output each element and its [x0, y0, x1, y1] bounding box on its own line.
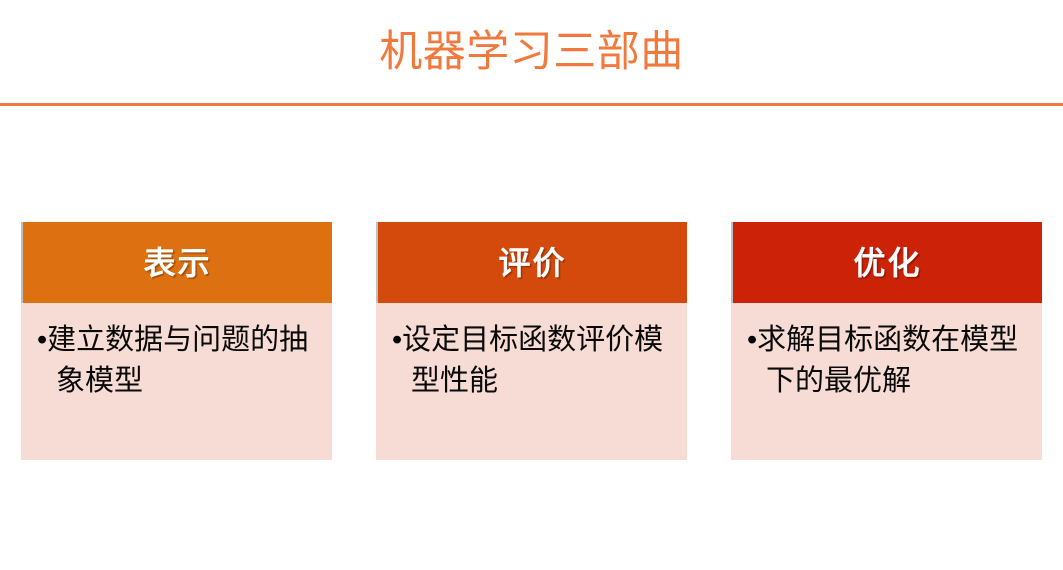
concept-card-body-text: 求解目标函数在模型下的最优解 [757, 324, 1018, 397]
bullet-icon: • [37, 324, 47, 356]
slide-title-text: 机器学习三部曲 [379, 28, 684, 76]
slide-title: 机器学习三部曲 [0, 22, 1063, 82]
concept-card-body-line: •设定目标函数评价模型性能 [392, 320, 675, 402]
cards-row: 表示 •建立数据与问题的抽象模型 评价 •设定目标函数评价模型性能 优化 •求解… [0, 222, 1063, 462]
bullet-icon: • [392, 324, 402, 356]
concept-card-body-text: 设定目标函数评价模型性能 [402, 324, 663, 397]
concept-card-body: •建立数据与问题的抽象模型 [21, 303, 332, 402]
concept-card-representation[interactable]: 表示 •建立数据与问题的抽象模型 [21, 222, 332, 460]
concept-card-body-line: •求解目标函数在模型下的最优解 [747, 320, 1030, 402]
concept-card-header-label: 表示 [143, 247, 211, 279]
bullet-icon: • [747, 324, 757, 356]
concept-card-header: 表示 [21, 222, 332, 303]
concept-card-header: 优化 [731, 222, 1042, 303]
concept-card-body-text: 建立数据与问题的抽象模型 [47, 324, 308, 397]
concept-card-body-line: •建立数据与问题的抽象模型 [37, 320, 320, 402]
concept-card-body: •求解目标函数在模型下的最优解 [731, 303, 1042, 402]
concept-card-header: 评价 [376, 222, 687, 303]
concept-card-header-label: 评价 [498, 247, 566, 279]
concept-card-optimization[interactable]: 优化 •求解目标函数在模型下的最优解 [731, 222, 1042, 460]
concept-card-evaluation[interactable]: 评价 •设定目标函数评价模型性能 [376, 222, 687, 460]
title-divider-rule [0, 103, 1063, 106]
concept-card-header-label: 优化 [853, 247, 921, 279]
concept-card-body: •设定目标函数评价模型性能 [376, 303, 687, 402]
